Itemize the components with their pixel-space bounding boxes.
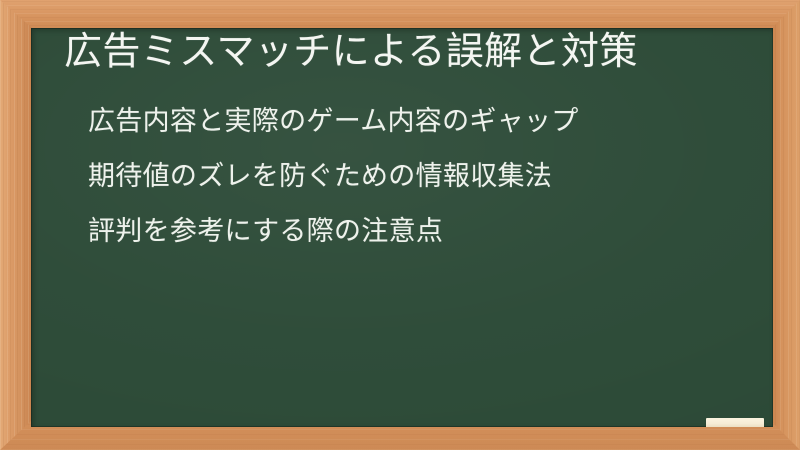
chalkboard-content-area: 広告ミスマッチによる誤解と対策 広告内容と実際のゲーム内容のギャップ 期待値のズ… [31,28,773,427]
frame-rail-right [772,0,800,450]
slide-title: 広告ミスマッチによる誤解と対策 [64,33,638,71]
bullet-item-3: 評判を参考にする際の注意点 [88,218,579,273]
slide-bullet-list: 広告内容と実際のゲーム内容のギャップ 期待値のズレを防ぐための情報収集法 評判を… [88,108,579,273]
frame-rail-top [0,0,800,30]
chalk-stick [706,418,764,427]
frame-rail-left [0,0,32,450]
bullet-item-1: 広告内容と実際のゲーム内容のギャップ [88,108,579,163]
bullet-item-2: 期待値のズレを防ぐための情報収集法 [88,163,579,218]
chalkboard-surface: 広告ミスマッチによる誤解と対策 広告内容と実際のゲーム内容のギャップ 期待値のズ… [31,28,773,427]
blackboard-slide: 広告ミスマッチによる誤解と対策 広告内容と実際のゲーム内容のギャップ 期待値のズ… [0,0,800,450]
